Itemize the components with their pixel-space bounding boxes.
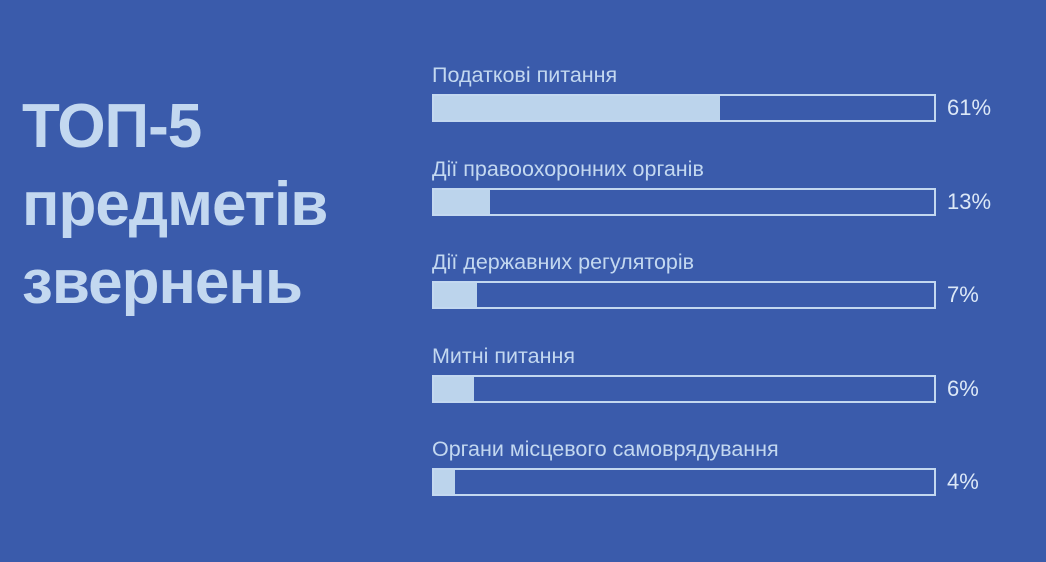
bar-line: 4% (432, 468, 1012, 496)
page-title-line-2: предметів (22, 166, 412, 244)
bar-fill (434, 283, 477, 307)
bar-chart: Податкові питання 61% Дії правоохоронних… (432, 62, 1012, 530)
bar-track (432, 468, 936, 496)
bar-value: 6% (947, 375, 979, 403)
bar-value: 61% (947, 94, 991, 122)
page-title: ТОП-5 предметів звернень (22, 88, 412, 322)
bar-track (432, 375, 936, 403)
bar-value: 4% (947, 468, 979, 496)
bar-row: Податкові питання 61% (432, 62, 1012, 156)
bar-value: 13% (947, 188, 991, 216)
bar-fill (434, 377, 474, 401)
bar-label: Податкові питання (432, 62, 1012, 88)
bar-fill (434, 470, 455, 494)
page-title-line-3: звернень (22, 244, 412, 322)
bar-line: 7% (432, 281, 1012, 309)
bar-line: 61% (432, 94, 1012, 122)
bar-label: Дії правоохоронних органів (432, 156, 1012, 182)
bar-label: Органи місцевого самоврядування (432, 436, 1012, 462)
bar-row: Митні питання 6% (432, 343, 1012, 437)
bar-track (432, 188, 936, 216)
bar-track (432, 94, 936, 122)
bar-fill (434, 96, 720, 120)
bar-value: 7% (947, 281, 979, 309)
page-title-line-1: ТОП-5 (22, 88, 412, 166)
bar-row: Органи місцевого самоврядування 4% (432, 436, 1012, 530)
bar-track (432, 281, 936, 309)
bar-line: 6% (432, 375, 1012, 403)
bar-label: Митні питання (432, 343, 1012, 369)
infographic-slide: ТОП-5 предметів звернень Податкові питан… (0, 0, 1046, 562)
bar-label: Дії державних регуляторів (432, 249, 1012, 275)
bar-row: Дії державних регуляторів 7% (432, 249, 1012, 343)
bar-row: Дії правоохоронних органів 13% (432, 156, 1012, 250)
bar-fill (434, 190, 490, 214)
bar-line: 13% (432, 188, 1012, 216)
